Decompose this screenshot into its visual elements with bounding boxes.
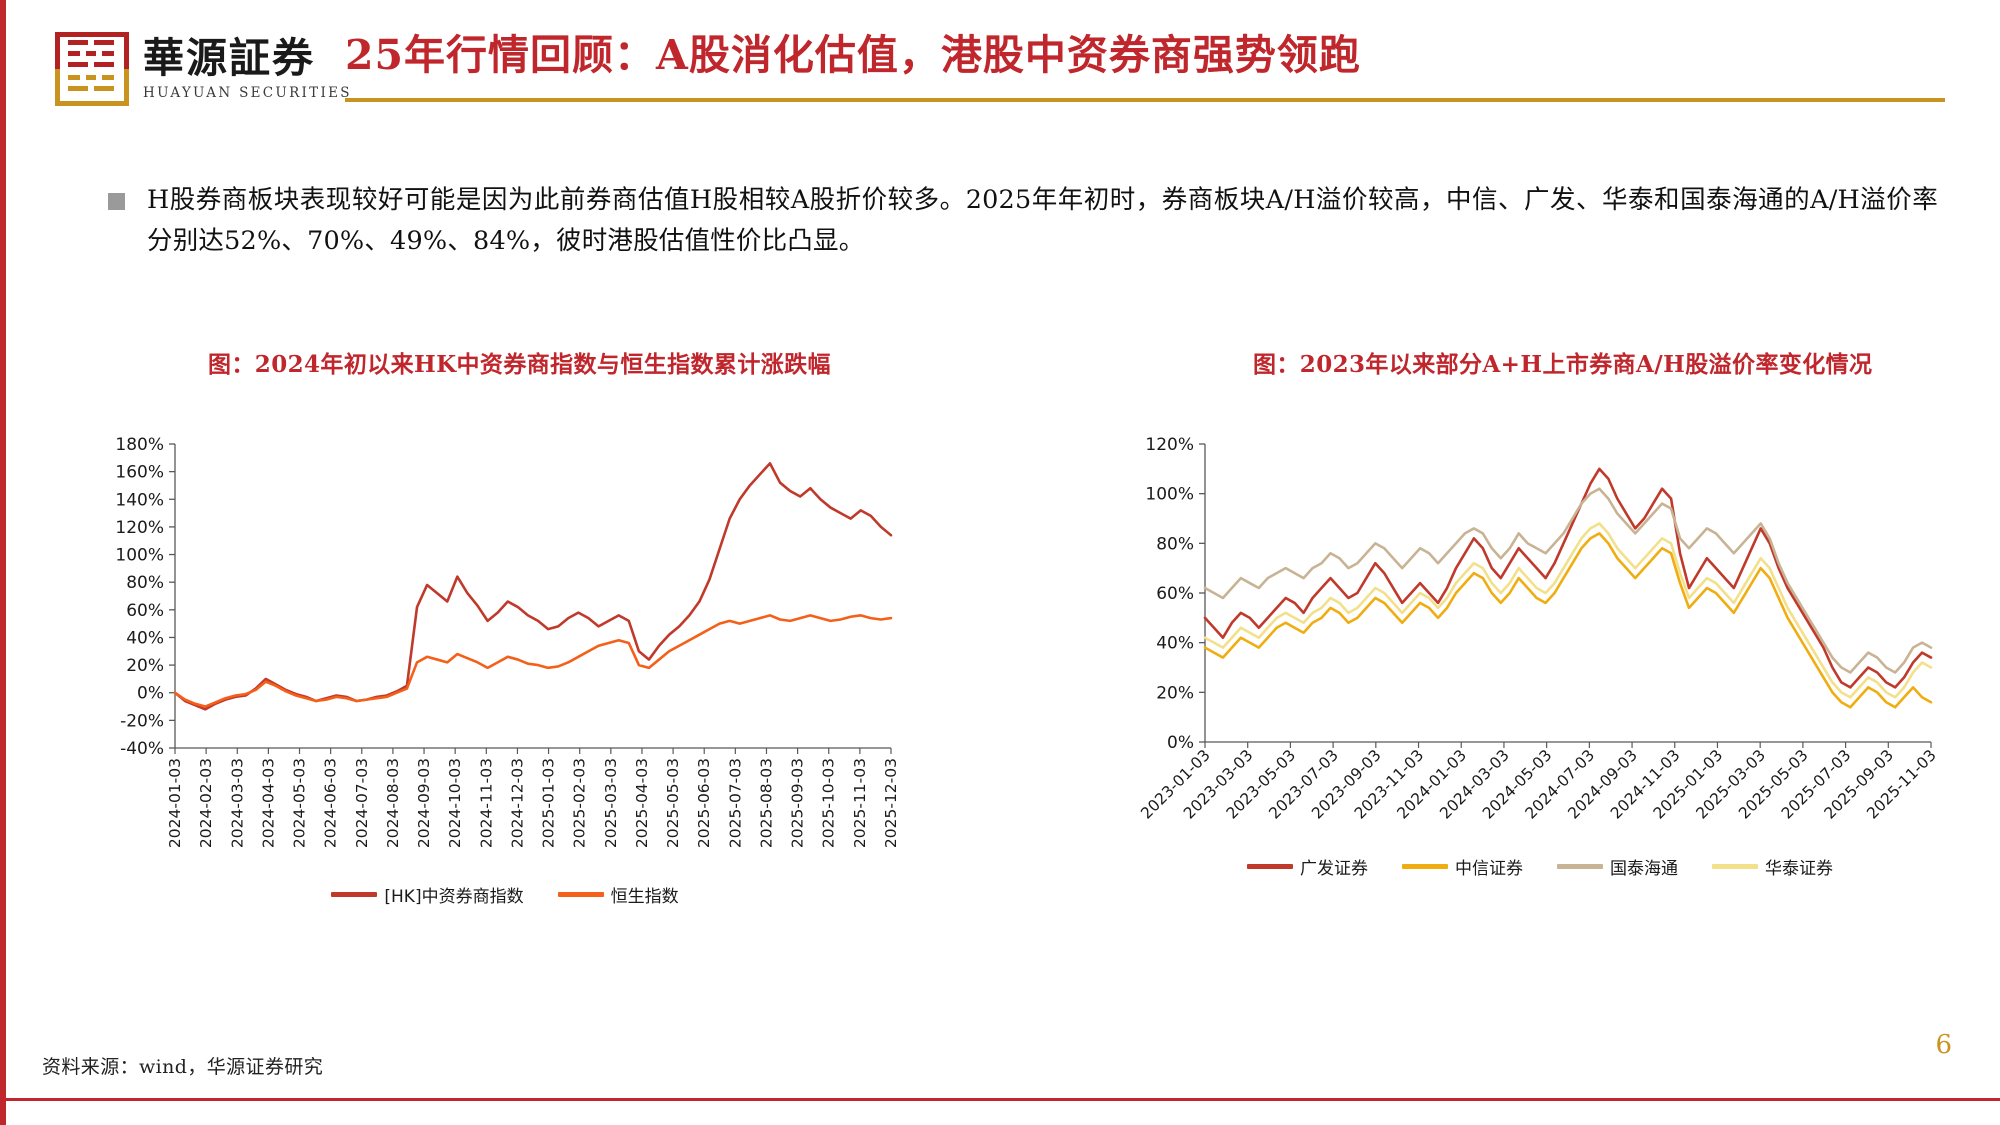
line-chart-left: -40%-20%0%20%40%60%80%100%120%140%160%18… (95, 430, 915, 880)
x-tick-label: 2025-09-03 (789, 758, 807, 848)
legend-swatch-icon (558, 892, 604, 897)
y-tick-label: -40% (120, 739, 164, 759)
y-tick-label: 60% (126, 601, 164, 621)
left-edge-accent (0, 0, 6, 1125)
brand-name-cn: 華源証券 (143, 38, 352, 79)
x-tick-label: 2024-01-03 (166, 758, 184, 848)
chart-title-left: 图：2024年初以来HK中资券商指数与恒生指数累计涨跌幅 (208, 345, 831, 379)
x-tick-label: 2025-04-03 (633, 758, 651, 848)
x-tick-label: 2024-02-03 (197, 758, 215, 848)
x-tick-label: 2025-02-03 (571, 758, 589, 848)
x-tick-label: 2025-07-03 (726, 758, 744, 848)
x-tick-label: 2025-03-03 (602, 758, 620, 848)
y-tick-label: 120% (115, 518, 164, 538)
x-tick-label: 2025-01-03 (540, 758, 558, 848)
series-line-2 (175, 615, 891, 706)
y-tick-label: 0% (1167, 733, 1194, 753)
legend-swatch-icon (1402, 864, 1448, 869)
bullet-square-icon (108, 193, 125, 210)
legend-item-2[interactable]: 中信证券 (1402, 854, 1523, 879)
y-tick-label: 160% (115, 463, 164, 483)
series-line-4 (1205, 523, 1931, 697)
slide-header: 華源証券 HUAYUAN SECURITIES 25年行情回顾：A股消化估值，港… (0, 0, 2000, 132)
y-tick-label: 80% (1156, 534, 1194, 554)
legend-label: 中信证券 (1455, 854, 1523, 879)
x-tick-label: 2024-08-03 (384, 758, 402, 848)
legend-swatch-icon (331, 892, 377, 897)
chart-panel-left: -40%-20%0%20%40%60%80%100%120%140%160%18… (95, 430, 915, 940)
x-tick-label: 2024-10-03 (446, 758, 464, 848)
legend-swatch-icon (1247, 864, 1293, 869)
x-tick-label: 2024-04-03 (259, 758, 277, 848)
brand-name-en: HUAYUAN SECURITIES (143, 87, 352, 101)
page-number: 6 (1935, 1030, 1952, 1060)
legend-label: 恒生指数 (611, 882, 679, 907)
legend-label: 国泰海通 (1610, 854, 1678, 879)
x-tick-label: 2025-10-03 (820, 758, 838, 848)
x-tick-label: 2024-12-03 (508, 758, 526, 848)
y-tick-label: 120% (1145, 435, 1194, 455)
x-tick-label: 2025-05-03 (664, 758, 682, 848)
y-tick-label: 100% (115, 546, 164, 566)
legend-item-4[interactable]: 华泰证券 (1712, 854, 1833, 879)
x-tick-label: 2024-09-03 (415, 758, 433, 848)
legend-label: [HK]中资券商指数 (384, 882, 523, 907)
y-tick-label: 180% (115, 435, 164, 455)
chart-legend-left: [HK]中资券商指数恒生指数 (95, 882, 915, 907)
brand-logo: 華源証券 HUAYUAN SECURITIES (55, 32, 352, 106)
footer-rule (0, 1098, 2000, 1101)
title-underline (345, 98, 1945, 102)
x-tick-label: 2024-11-03 (477, 758, 495, 848)
x-tick-label: 2024-05-03 (291, 758, 309, 848)
y-tick-label: 60% (1156, 584, 1194, 604)
source-note: 资料来源：wind，华源证券研究 (42, 1052, 323, 1079)
legend-item-3[interactable]: 国泰海通 (1557, 854, 1678, 879)
y-tick-label: 20% (1156, 683, 1194, 703)
series-line-1 (1205, 469, 1931, 688)
x-tick-label: 2025-06-03 (695, 758, 713, 848)
x-tick-label: 2025-11-03 (851, 758, 869, 848)
chart-legend-right: 广发证券中信证券国泰海通华泰证券 (1125, 854, 1955, 879)
legend-label: 广发证券 (1300, 854, 1368, 879)
chart-panel-right: 0%20%40%60%80%100%120%2023-01-032023-03-… (1125, 430, 1955, 940)
y-tick-label: -20% (120, 711, 164, 731)
y-tick-label: 80% (126, 573, 164, 593)
x-tick-label: 2024-07-03 (353, 758, 371, 848)
bullet-paragraph: H股券商板块表现较好可能是因为此前券商估值H股相较A股折价较多。2025年年初时… (108, 180, 1938, 263)
x-tick-label: 2025-08-03 (757, 758, 775, 848)
y-tick-label: 0% (137, 684, 164, 704)
chart-title-right: 图：2023年以来部分A+H上市券商A/H股溢价率变化情况 (1253, 345, 1872, 379)
huayuan-logo-icon (55, 32, 129, 106)
legend-item-1[interactable]: 广发证券 (1247, 854, 1368, 879)
legend-swatch-icon (1712, 864, 1758, 869)
slide-root: 華源証券 HUAYUAN SECURITIES 25年行情回顾：A股消化估值，港… (0, 0, 2000, 1125)
y-tick-label: 140% (115, 490, 164, 510)
bullet-text: H股券商板块表现较好可能是因为此前券商估值H股相较A股折价较多。2025年年初时… (147, 180, 1938, 263)
y-tick-label: 40% (1156, 634, 1194, 654)
page-title-block: 25年行情回顾：A股消化估值，港股中资券商强势领跑 (345, 30, 2000, 81)
line-chart-right: 0%20%40%60%80%100%120%2023-01-032023-03-… (1125, 430, 1955, 850)
legend-item-2[interactable]: 恒生指数 (558, 882, 679, 907)
x-tick-label: 2024-06-03 (322, 758, 340, 848)
x-tick-label: 2025-12-03 (882, 758, 900, 848)
y-tick-label: 40% (126, 628, 164, 648)
legend-swatch-icon (1557, 864, 1603, 869)
legend-label: 华泰证券 (1765, 854, 1833, 879)
series-line-1 (175, 463, 891, 709)
legend-item-1[interactable]: [HK]中资券商指数 (331, 882, 523, 907)
y-tick-label: 100% (1145, 485, 1194, 505)
x-tick-label: 2024-03-03 (228, 758, 246, 848)
page-title: 25年行情回顾：A股消化估值，港股中资券商强势领跑 (345, 30, 2000, 81)
y-tick-label: 20% (126, 656, 164, 676)
